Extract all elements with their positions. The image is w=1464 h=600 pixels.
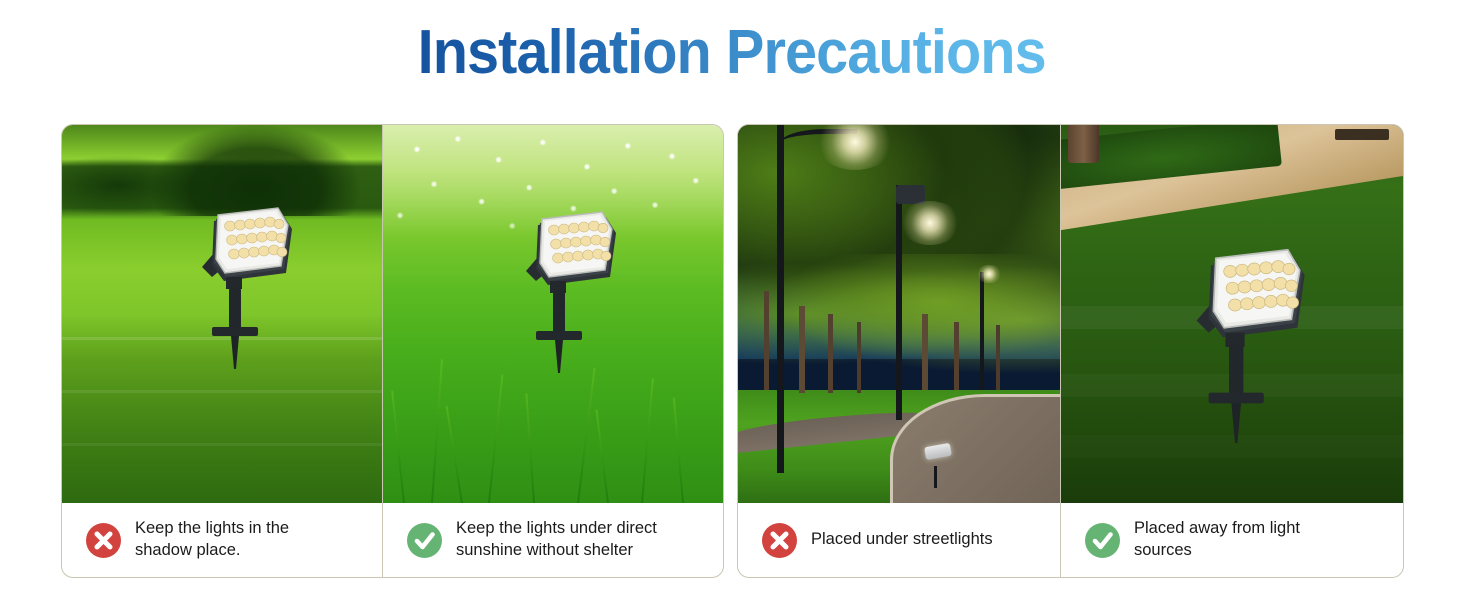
caption-text: Keep the lights in the shadow place. [135, 518, 350, 562]
caption-under-streetlights: Placed under streetlights [738, 503, 1060, 577]
sunlight-placement-group: Keep the lights in the shadow place. [61, 124, 724, 578]
check-mark-icon [407, 523, 442, 558]
photo-sunny-flower-lawn [383, 125, 723, 503]
check-mark-icon [1085, 523, 1120, 558]
page-title: Installation Precautions [418, 22, 1046, 84]
caption-away-from-light: Placed away from light sources [1061, 503, 1403, 577]
panel-shadow-place[interactable]: Keep the lights in the shadow place. [62, 125, 382, 577]
photo-night-park-streetlights [738, 125, 1060, 503]
panel-direct-sunshine[interactable]: Keep the lights under direct sunshine wi… [382, 125, 723, 577]
caption-direct-sunshine: Keep the lights under direct sunshine wi… [383, 503, 723, 577]
panel-away-from-light[interactable]: Placed away from light sources [1060, 125, 1403, 577]
caption-text: Placed under streetlights [811, 529, 993, 551]
solar-led-spotlight [1139, 203, 1319, 443]
panel-under-streetlights[interactable]: Placed under streetlights [738, 125, 1060, 577]
page-header: Installation Precautions [0, 22, 1464, 84]
solar-led-spotlight [154, 169, 304, 369]
cross-mark-icon [86, 523, 121, 558]
photo-dark-lawn-walkway [1061, 125, 1403, 503]
precaution-card-groups: Keep the lights in the shadow place. [0, 124, 1464, 578]
caption-text: Keep the lights under direct sunshine wi… [456, 518, 671, 562]
caption-shadow-place: Keep the lights in the shadow place. [62, 503, 382, 577]
caption-text: Placed away from light sources [1134, 518, 1359, 562]
solar-led-spotlight [478, 173, 628, 373]
cross-mark-icon [762, 523, 797, 558]
photo-lawn-with-shadow [62, 125, 382, 503]
light-source-placement-group: Placed under streetlights [737, 124, 1404, 578]
